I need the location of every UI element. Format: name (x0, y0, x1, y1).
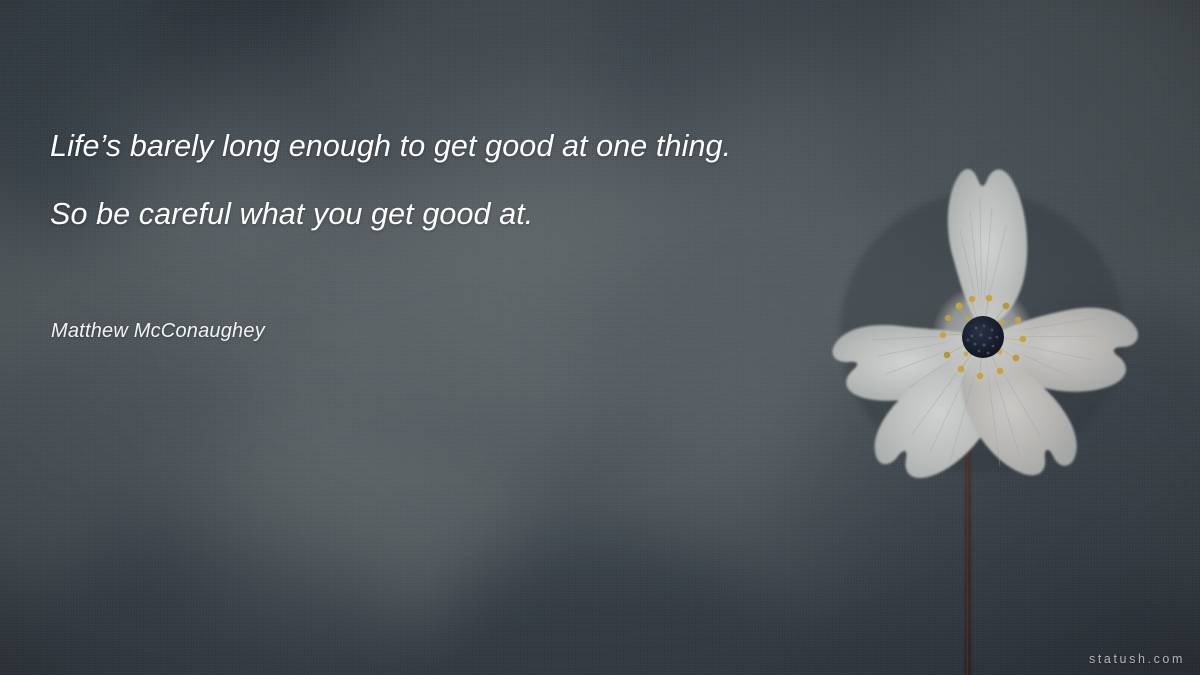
quote-text-block: Life’s barely long enough to get good at… (50, 112, 930, 248)
quote-image-card: Life’s barely long enough to get good at… (0, 0, 1200, 675)
flower-center-disc (962, 316, 1004, 358)
quote-line-1: Life’s barely long enough to get good at… (50, 112, 930, 180)
stamen-anthers (940, 295, 1027, 380)
quote-author: Matthew McConaughey (51, 320, 265, 343)
site-watermark: statush.com (1089, 652, 1185, 666)
quote-line-2: So be careful what you get good at. (50, 180, 930, 248)
flower-stem (965, 450, 971, 675)
stamen-filaments (946, 300, 1020, 374)
